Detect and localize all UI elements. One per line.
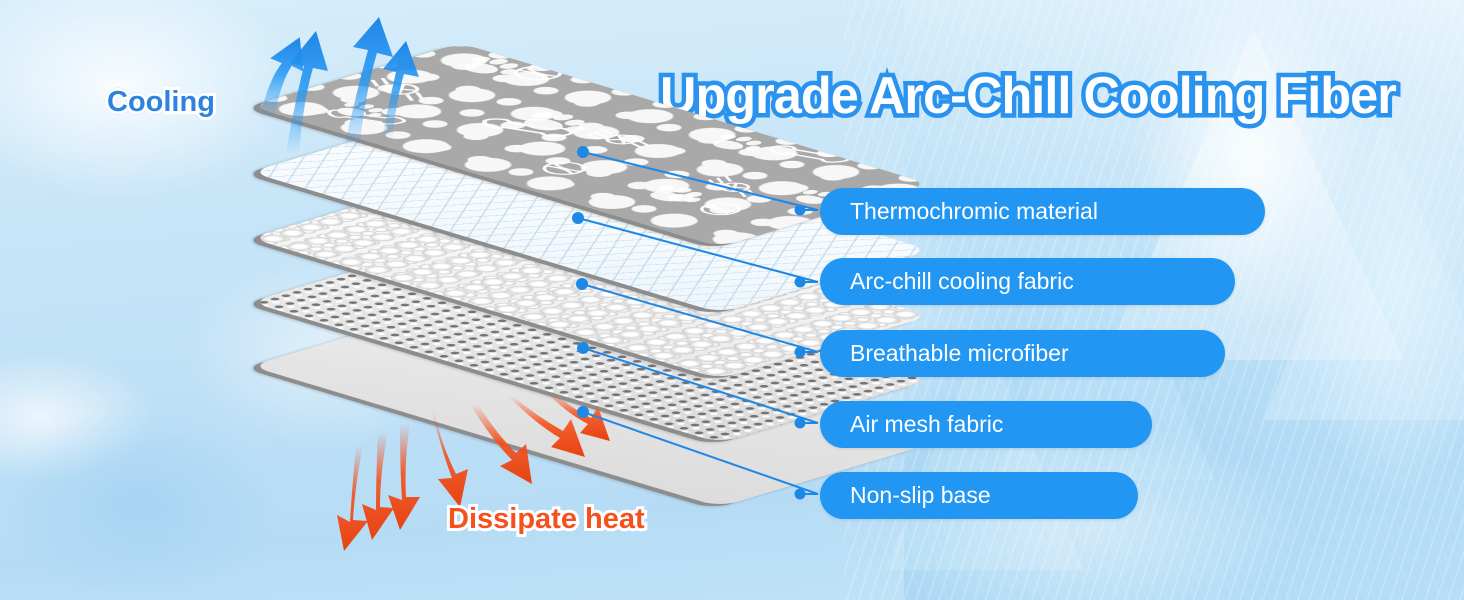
callout-pill-arc-chill-cooling-fabric[interactable]: Arc-chill cooling fabric xyxy=(820,258,1235,305)
callout-pill-air-mesh-fabric[interactable]: Air mesh fabric xyxy=(820,401,1152,448)
callout-pill-thermochromic-material[interactable]: Thermochromic material xyxy=(820,188,1265,235)
callout-label: Arc-chill cooling fabric xyxy=(850,268,1074,295)
caption-dissipate-heat: Dissipate heat xyxy=(448,503,645,536)
callout-label: Thermochromic material xyxy=(850,198,1098,225)
callout-pill-breathable-microfiber[interactable]: Breathable microfiber xyxy=(820,330,1225,377)
callout-label: Non-slip base xyxy=(850,482,991,509)
infographic-canvas: Upgrade Arc-Chill Cooling Fiber xyxy=(0,0,1464,600)
page-title: Upgrade Arc-Chill Cooling Fiber xyxy=(660,66,1396,126)
callout-label: Breathable microfiber xyxy=(850,340,1069,367)
caption-cooling: Cooling xyxy=(107,86,215,119)
callout-label: Air mesh fabric xyxy=(850,411,1003,438)
callout-pill-non-slip-base[interactable]: Non-slip base xyxy=(820,472,1138,519)
